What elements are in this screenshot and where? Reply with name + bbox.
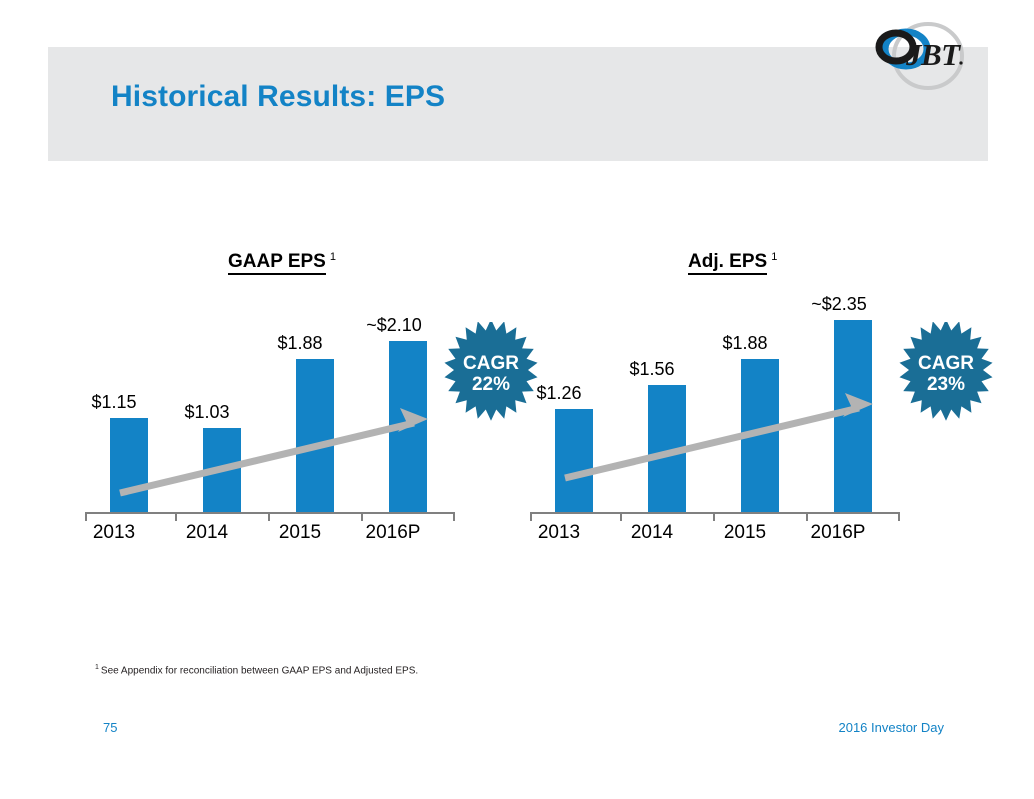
bar-adj-2016p [834,320,872,512]
cat-label-adj-2014: 2014 [612,522,692,544]
jbt-logo: JBT [872,18,972,94]
footnote-marker: 1 [95,664,99,671]
bar-label-gaap-2014: $1.03 [167,402,247,423]
jbt-logo-icon: JBT [872,18,972,94]
cat-label-adj-2016p: 2016P [798,522,878,544]
cat-label-gaap-2016p: 2016P [353,522,433,544]
x-axis-tick-adj-0 [530,512,532,521]
bar-label-adj-2014: $1.56 [612,359,692,380]
x-axis-tick-adj-1 [620,512,622,521]
cagr-value-adj: 23% [927,374,965,395]
footnote: 1See Appendix for reconciliation between… [95,664,418,676]
bar-label-adj-2015: $1.88 [705,333,785,354]
plot-area-adj [530,300,900,512]
bar-label-adj-2016p: ~$2.35 [794,294,884,315]
cagr-label-gaap: CAGR [463,353,519,374]
x-axis-tick-gaap-2 [268,512,270,521]
cat-label-gaap-2013: 2013 [74,522,154,544]
cat-label-adj-2015: 2015 [705,522,785,544]
chart-heading-gaap: GAAP EPS1 [228,251,336,273]
bar-gaap-2015 [296,359,334,512]
chart-heading-gaap-footnote-marker: 1 [330,251,336,263]
cagr-value-gaap: 22% [472,374,510,395]
cat-label-adj-2013: 2013 [519,522,599,544]
x-axis-gaap [85,512,455,514]
bar-gaap-2016p [389,341,427,512]
x-axis-adj [530,512,900,514]
chart-gaap-eps: $1.15 $1.03 $1.88 ~$2.10 2013 2014 2015 … [70,300,470,560]
bar-adj-2014 [648,385,686,512]
x-axis-tick-adj-3 [806,512,808,521]
chart-heading-adj-footnote-marker: 1 [771,251,777,263]
cagr-badge-adj-text: CAGR 23% [898,322,994,426]
bar-gaap-2014 [203,428,241,512]
bar-gaap-2013 [110,418,148,512]
bar-label-gaap-2013: $1.15 [74,392,154,413]
chart-heading-adj: Adj. EPS1 [688,251,777,273]
x-axis-tick-gaap-3 [361,512,363,521]
x-axis-tick-gaap-1 [175,512,177,521]
chart-adj-eps: $1.26 $1.56 $1.88 ~$2.35 2013 2014 2015 … [515,300,915,560]
chart-heading-adj-label: Adj. EPS [688,251,767,275]
cat-label-gaap-2014: 2014 [167,522,247,544]
cagr-badge-gaap-text: CAGR 22% [443,322,539,426]
x-axis-tick-adj-4 [898,512,900,521]
x-axis-tick-gaap-0 [85,512,87,521]
cagr-label-adj: CAGR [918,353,974,374]
page-title: Historical Results: EPS [111,80,445,114]
page-number: 75 [103,720,117,735]
cagr-badge-gaap: CAGR 22% [443,322,539,426]
header-band: Historical Results: EPS [48,47,988,161]
x-axis-tick-adj-2 [713,512,715,521]
bar-label-gaap-2015: $1.88 [260,333,340,354]
deck-name: 2016 Investor Day [838,720,944,735]
bar-adj-2015 [741,359,779,512]
chart-heading-gaap-label: GAAP EPS [228,251,326,275]
bar-label-gaap-2016p: ~$2.10 [349,315,439,336]
x-axis-tick-gaap-4 [453,512,455,521]
cagr-badge-adj: CAGR 23% [898,322,994,426]
svg-text:JBT: JBT [905,37,961,72]
cat-label-gaap-2015: 2015 [260,522,340,544]
footnote-text: See Appendix for reconciliation between … [101,665,418,676]
bar-adj-2013 [555,409,593,512]
